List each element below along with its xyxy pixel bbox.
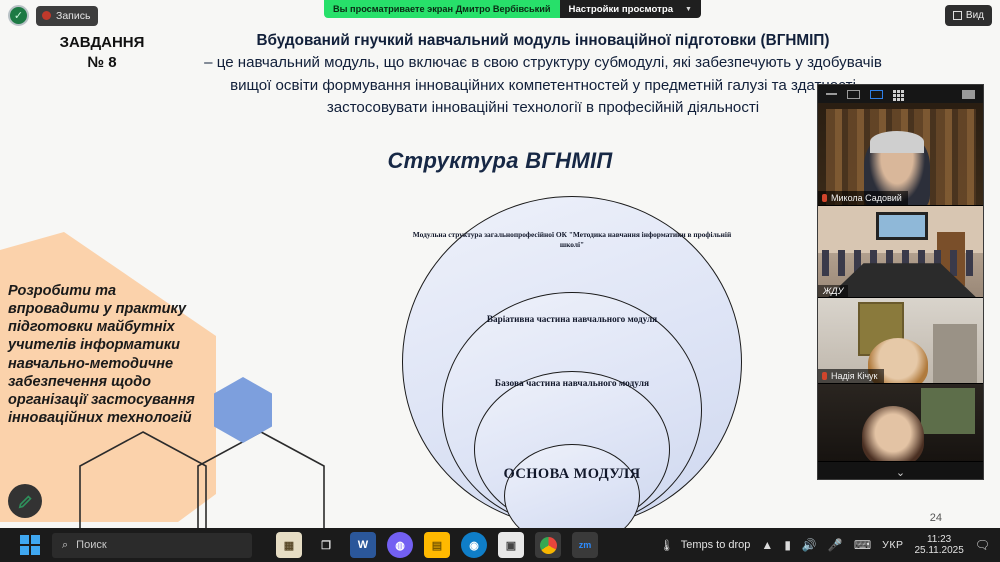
clock-time: 11:23 (914, 534, 963, 546)
diagram-label-core: ОСНОВА МОДУЛЯ (402, 465, 742, 483)
view-mode-button[interactable]: Вид (945, 5, 992, 26)
recording-indicator[interactable]: Запись (36, 6, 98, 26)
participant-tile[interactable]: Микола Садовий (818, 103, 983, 206)
microphone-muted-icon (822, 372, 827, 380)
thermometer-icon: 🌡 (660, 539, 674, 552)
view-button-label: Вид (966, 10, 984, 21)
diagram-label-second: Варіативна частина навчального модуля (402, 313, 742, 325)
taskbar-system-tray: 🌡 Temps to drop ▲ ▮ 🔊 🎤 ⌨ УКР 11:23 25.1… (660, 534, 1000, 557)
microphone-icon[interactable]: 🎤 (828, 538, 843, 552)
weather-widget[interactable]: 🌡 Temps to drop (660, 539, 751, 552)
slide-page-number: 24 (930, 512, 942, 524)
task-label-word: ЗАВДАННЯ (38, 33, 166, 53)
screen-share-banner: Вы просматриваете экран Дмитро Вербівськ… (324, 0, 701, 18)
zoom-top-left-controls: ✓ Запись (8, 5, 98, 26)
recording-label: Запись (56, 10, 90, 22)
participant-name: ЖДУ (818, 285, 848, 297)
battery-icon[interactable]: ▮ (784, 538, 791, 552)
microphone-muted-icon (822, 194, 827, 202)
chevron-down-icon: ▼ (685, 6, 692, 13)
task-number-label: ЗАВДАННЯ № 8 (38, 33, 166, 72)
participant-name: Микола Садовий (831, 193, 902, 203)
taskbar-app-group: ▦ ❐ W ◍ ▤ ◉ ▣ zm (276, 532, 598, 558)
word-app-icon[interactable]: W (350, 532, 376, 558)
slide-heading-block: Вбудований гнучкий навчальний модуль інн… (198, 30, 888, 120)
clock-widget[interactable]: 11:23 25.11.2025 (914, 534, 963, 557)
share-notice-text: Вы просматриваете экран Дмитро Вербівськ… (324, 0, 560, 18)
strip-view-icon[interactable] (870, 90, 883, 99)
video-layout-toolbar (818, 85, 983, 103)
keyboard-icon[interactable]: ⌨ (854, 538, 871, 552)
viber-app-icon[interactable]: ◍ (387, 532, 413, 558)
search-icon: ⌕ (62, 539, 68, 552)
fullscreen-icon[interactable] (962, 90, 975, 99)
diagram-label-outer: Модульна структура загальнопрофесійної О… (402, 230, 742, 250)
secure-check-icon[interactable]: ✓ (8, 5, 29, 26)
task-view-icon[interactable]: ❐ (313, 532, 339, 558)
annotation-pen-icon[interactable] (8, 484, 42, 518)
participant-tile[interactable]: Надія Кічук (818, 298, 983, 384)
notifications-icon[interactable]: 🗨 (975, 538, 990, 552)
diagram-label-third: Базова частина навчального модуля (402, 378, 742, 391)
speaker-view-icon[interactable] (847, 90, 860, 99)
chrome-app-icon[interactable] (535, 532, 561, 558)
participant-video-sidebar: Микола Садовий ЖДУ Надія Кічук ⌄ (817, 84, 984, 480)
view-options-dropdown[interactable]: Настройки просмотра ▼ (560, 0, 701, 18)
windows-taskbar: ⌕ Поиск ▦ ❐ W ◍ ▤ ◉ ▣ zm 🌡 Temps to drop… (0, 528, 1000, 562)
record-dot-icon (42, 11, 51, 20)
gallery-view-icon[interactable] (893, 90, 906, 99)
zoom-app-icon[interactable]: zm (572, 532, 598, 558)
participant-tile[interactable]: ЖДУ (818, 206, 983, 298)
concentric-structure-diagram: Модульна структура загальнопрофесійної О… (402, 196, 742, 528)
edge-app-icon[interactable]: ◉ (461, 532, 487, 558)
weather-text: Temps to drop (681, 539, 751, 551)
clock-date: 25.11.2025 (914, 545, 963, 557)
participant-name-badge: Надія Кічук (818, 369, 884, 383)
participant-name: Надія Кічук (831, 371, 878, 381)
windows-start-icon[interactable] (20, 535, 40, 555)
participant-name-badge: Микола Садовий (818, 191, 908, 205)
minimize-icon[interactable] (826, 93, 837, 95)
video-feed (818, 384, 983, 461)
store-app-icon[interactable]: ▣ (498, 532, 524, 558)
file-explorer-icon[interactable]: ▤ (424, 532, 450, 558)
chevron-down-icon[interactable]: ⌄ (896, 466, 905, 479)
museum-app-icon[interactable]: ▦ (276, 532, 302, 558)
video-feed (818, 103, 983, 205)
task-label-number: № 8 (38, 53, 166, 73)
participant-tile[interactable] (818, 384, 983, 462)
video-feed: ЖДУ (818, 206, 983, 297)
sidebar-collapse-row[interactable]: ⌄ (818, 462, 983, 479)
language-indicator[interactable]: УКР (882, 539, 903, 551)
slide-heading-body: – це навчальний модуль, що включає в сво… (198, 52, 888, 120)
volume-icon[interactable]: 🔊 (802, 538, 817, 552)
search-input[interactable]: ⌕ Поиск (52, 533, 252, 558)
show-hidden-icons-icon[interactable]: ▲ (761, 538, 773, 552)
grid-view-icon (953, 11, 962, 20)
task-description-text: Розробити та впровадити у практику підго… (8, 282, 208, 427)
search-placeholder: Поиск (76, 539, 106, 551)
view-options-label: Настройки просмотра (569, 4, 674, 15)
slide-heading-bold: Вбудований гнучкий навчальний модуль інн… (198, 30, 888, 52)
taskbar-left-group: ⌕ Поиск ▦ ❐ W ◍ ▤ ◉ ▣ zm (0, 532, 598, 558)
